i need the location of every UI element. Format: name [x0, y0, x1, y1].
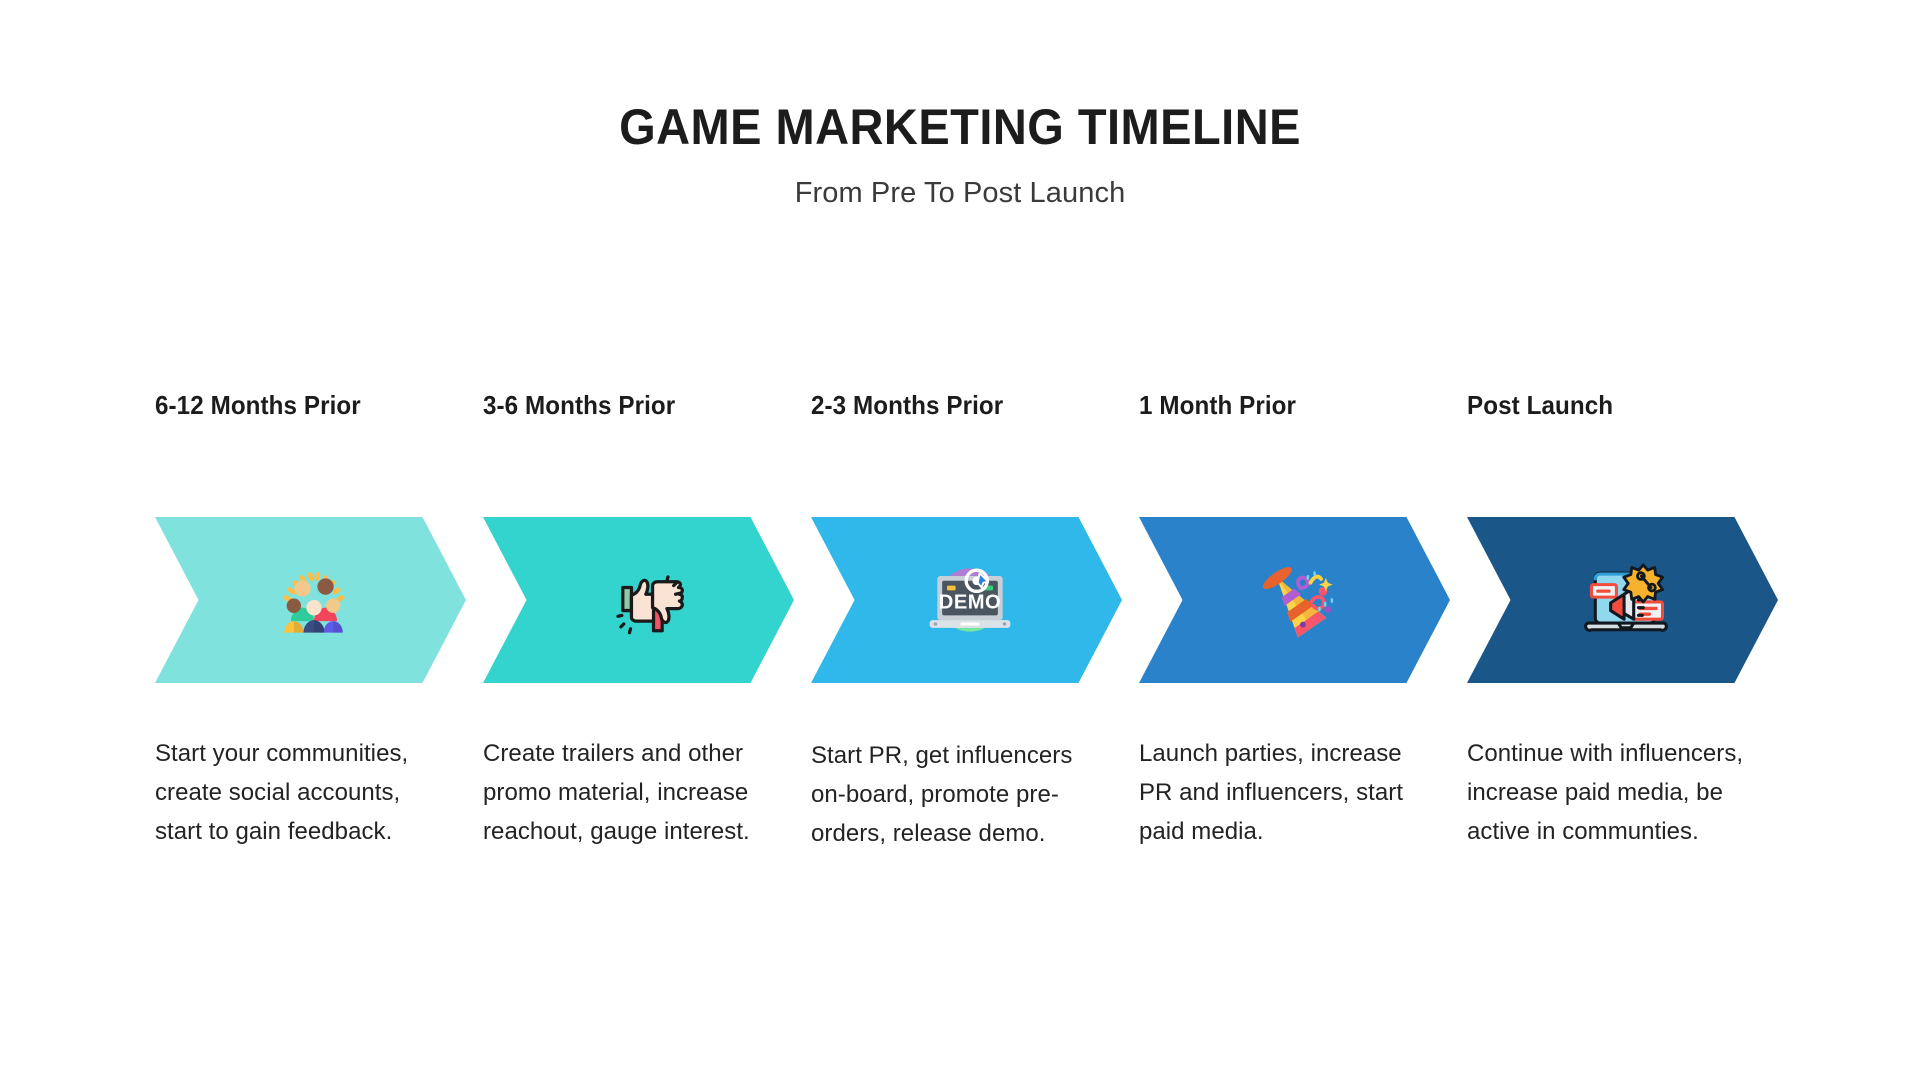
svg-text:DEMO: DEMO [938, 592, 1000, 614]
chevron-shape-5 [1467, 517, 1778, 683]
chevron-shape-3: DEMO [811, 517, 1122, 683]
chevron-shape-1 [155, 517, 466, 683]
stage-description: Launch parties, increase PR and influenc… [1139, 735, 1421, 852]
header: GAME MARKETING TIMELINE From Pre To Post… [0, 100, 1920, 211]
laptop-demo-icon: DEMO [922, 552, 1018, 648]
stage-chevron [1467, 517, 1778, 683]
timeline-stage-5: Post Launch [1467, 390, 1795, 854]
community-people-icon [266, 552, 362, 648]
stage-chevron [1139, 517, 1450, 683]
thumbs-up-down-icon [594, 552, 690, 648]
stage-description: Continue with influencers, increase paid… [1467, 735, 1749, 852]
chevron-shape-2 [483, 517, 794, 683]
stage-chevron [155, 517, 466, 683]
timeline-stages: 6-12 Months Prior [155, 390, 1795, 854]
stage-description: Start PR, get influencers on-board, prom… [811, 737, 1093, 854]
stage-heading: Post Launch [1467, 390, 1772, 430]
page-subtitle: From Pre To Post Launch [0, 176, 1920, 211]
stage-description: Create trailers and other promo material… [483, 735, 765, 852]
timeline-stage-4: 1 Month Prior [1139, 390, 1467, 854]
party-popper-icon [1250, 552, 1346, 648]
timeline-stage-2: 3-6 Months Prior [483, 390, 811, 854]
page-title: GAME MARKETING TIMELINE [58, 100, 1863, 154]
digital-marketing-megaphone-icon [1578, 552, 1674, 648]
stage-heading: 1 Month Prior [1139, 390, 1444, 430]
stage-chevron [483, 517, 794, 683]
stage-heading: 6-12 Months Prior [155, 390, 460, 430]
stage-heading: 2-3 Months Prior [811, 390, 1116, 430]
stage-description: Start your communities, create social ac… [155, 735, 437, 852]
timeline-stage-3: 2-3 Months Prior [811, 390, 1139, 854]
infographic-page: GAME MARKETING TIMELINE From Pre To Post… [0, 0, 1920, 1080]
stage-heading: 3-6 Months Prior [483, 390, 788, 430]
chevron-shape-4 [1139, 517, 1450, 683]
timeline-stage-1: 6-12 Months Prior [155, 390, 483, 854]
stage-chevron: DEMO [811, 517, 1122, 683]
